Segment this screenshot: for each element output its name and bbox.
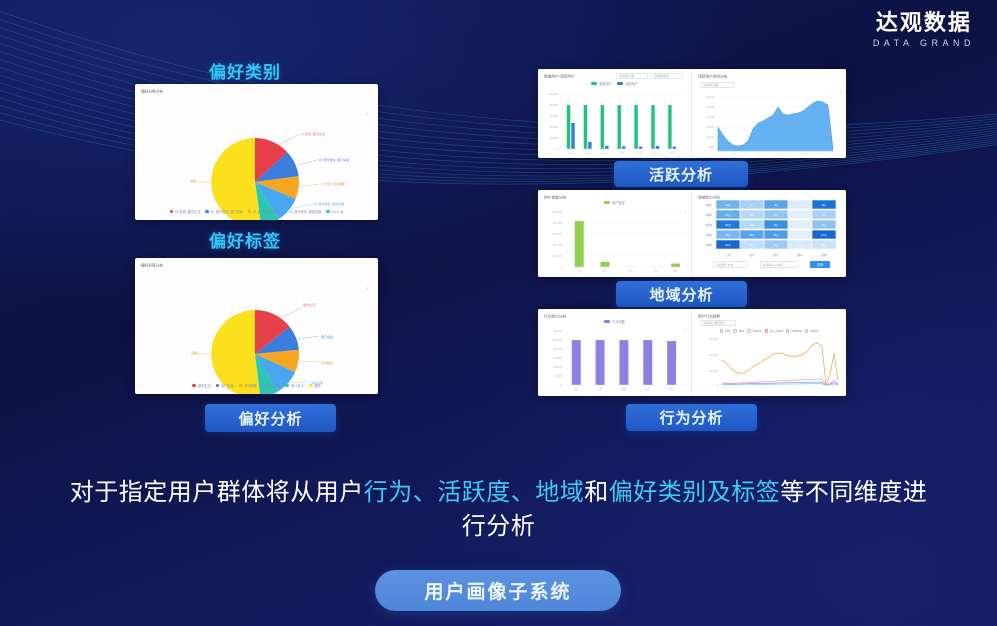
svg-text:29: 29 [833,388,835,390]
svg-text:上海: 上海 [725,253,731,257]
legend-pager[interactable]: 4 1/2▶ [326,210,343,214]
brand-name-en: DATA GRAND [873,38,975,48]
svg-text:18: 18 [793,154,795,156]
svg-text:杭州: 杭州 [654,269,658,273]
svg-text:51万: 51万 [822,224,828,227]
svg-text:时段4: 时段4 [705,233,712,237]
svg-text:31万: 31万 [750,224,756,227]
bar-chart-behavior: 300,000250,000200,000 150,000100,00050,0… [538,309,691,396]
svg-text:异术超能: 异术超能 [321,360,333,365]
svg-text:03: 03 [733,154,735,156]
svg-text:杭州: 杭州 [797,253,803,257]
svg-text:23: 23 [809,388,811,390]
svg-text:95万: 95万 [726,214,732,217]
svg-text:23: 23 [817,154,819,156]
pie-callout-2: W_现代言情_豪门总裁 [319,157,349,162]
svg-text:深圳: 深圳 [821,253,827,257]
svg-text:01-07: 01-07 [669,153,675,155]
main-text-highlight2: 偏好类别及标签 [609,479,781,506]
svg-text:300,000: 300,000 [553,233,563,236]
line-chart-behavior: 300,000200,000100,0000 02050811 14172023… [692,309,846,396]
svg-text:都市生活: 都市生活 [303,302,315,307]
svg-text:30,000: 30,000 [706,96,714,99]
svg-text:28万: 28万 [750,214,756,217]
button-behavior-analysis[interactable]: 行为分析 [626,404,757,431]
svg-text:15,000: 15,000 [706,126,714,129]
svg-text:128万: 128万 [725,204,732,207]
legend-pref-category: M_影视_都市生活 W_现代言情_豪门总裁 M_影视_异术超能 W_现代言情_霸… [135,209,378,214]
card-activity-analysis[interactable]: 新增用户/活跃用户 请选择日期 请选择类型 新增用户 活跃用户 ⤓ 100,00… [538,69,846,158]
svg-text:100,000: 100,000 [553,366,562,369]
svg-text:5,000: 5,000 [708,146,715,149]
svg-text:01-02: 01-02 [585,153,591,155]
svg-text:40,000: 40,000 [550,125,558,129]
svg-text:250,000: 250,000 [553,339,562,342]
legend-item[interactable]: W_现代言情_豪门总裁 [205,209,243,214]
legend-item[interactable]: M_影视_异术超能 [248,209,279,214]
svg-text:100,000: 100,000 [549,92,559,96]
svg-text:60,000: 60,000 [550,114,558,118]
svg-text:30万: 30万 [822,244,828,247]
pie-chart-pref-category: 其他 M_影视_都市生活 W_现代言情_豪门总裁 M_影视_异术超能 W_现代言… [135,84,378,220]
svg-text:15: 15 [781,154,783,156]
svg-text:100,000: 100,000 [709,370,718,373]
section-title-preference-tag: 偏好标签 [209,227,281,252]
svg-text:25,000: 25,000 [706,106,714,109]
svg-text:时段1: 时段1 [705,203,712,207]
svg-text:06: 06 [745,154,747,156]
button-preference-analysis[interactable]: 偏好分析 [205,404,336,432]
pie-chart-pref-tag: 其他 都市生活 豪门总裁 异术超能 霸道总裁 宫斗宅斗 [135,258,378,394]
svg-text:评论: 评论 [669,387,674,391]
svg-text:200,000: 200,000 [553,348,562,351]
svg-text:73万: 73万 [774,224,780,227]
svg-text:10,000: 10,000 [706,136,714,139]
svg-text:豪门总裁: 豪门总裁 [321,334,333,339]
svg-text:收藏: 收藏 [621,387,626,391]
svg-text:01-06: 01-06 [652,153,658,155]
svg-text:21: 21 [805,154,807,156]
legend-item[interactable]: 都市生活 [192,383,210,388]
svg-text:20,000: 20,000 [550,136,558,140]
svg-text:50,000: 50,000 [555,375,563,378]
svg-text:北京: 北京 [749,253,755,257]
svg-text:33万: 33万 [822,214,828,217]
main-text-highlight1: 行为、活跃度、地域 [364,479,585,506]
svg-text:26: 26 [821,388,823,390]
legend-item[interactable]: W_现代言情_霸道总裁 [284,209,322,214]
svg-text:100,000: 100,000 [553,255,563,258]
legend-item[interactable]: 宫斗宅斗 [285,383,303,388]
svg-text:22万: 22万 [750,244,756,247]
svg-text:分享: 分享 [645,387,650,391]
svg-text:20: 20 [797,388,799,390]
svg-text:300,000: 300,000 [709,338,718,341]
svg-text:68万: 68万 [774,234,780,237]
svg-text:0: 0 [556,147,558,151]
svg-text:12: 12 [769,154,771,156]
svg-text:01-03: 01-03 [602,153,608,155]
legend-item[interactable]: 豪门总裁 [216,383,234,388]
brand-name-cn: 达观数据 [873,10,975,35]
time-range-filter-input[interactable]: 时间段: 0-24时 [760,261,798,268]
svg-text:150,000: 150,000 [553,357,562,360]
svg-text:11: 11 [761,388,763,390]
pie-callout-3: M_影视_异术超能 [321,181,345,186]
svg-text:96万: 96万 [822,204,828,207]
svg-text:00: 00 [721,154,723,156]
svg-text:0: 0 [717,384,719,387]
svg-text:190万: 190万 [725,244,732,247]
svg-text:深圳: 深圳 [673,269,677,273]
city-filter-input[interactable]: 请选择: 城市 [714,261,748,268]
card-preference-category[interactable]: 偏好分类分布 ⤓ [135,84,378,220]
svg-text:107万: 107万 [821,234,828,237]
svg-text:时段2: 时段2 [705,213,712,217]
search-button[interactable]: 查询 [810,261,830,268]
svg-text:200,000: 200,000 [709,354,718,357]
svg-text:300,000: 300,000 [553,330,562,333]
svg-text:20,000: 20,000 [706,116,714,119]
svg-text:北京: 北京 [602,269,607,273]
main-description: 对于指定用户群体将从用户行为、活跃度、地域和偏好类别及标签等不同维度进行分析 [60,476,937,544]
svg-text:01-04: 01-04 [619,153,625,155]
svg-text:106万: 106万 [749,234,756,237]
svg-text:35万: 35万 [750,204,756,207]
svg-text:0: 0 [560,266,562,269]
legend-item[interactable]: 异术超能 [239,383,257,388]
legend-item[interactable]: 霸道总裁 [262,383,280,388]
svg-text:41万: 41万 [774,244,780,247]
legend-item[interactable]: M_影视_都市生活 [170,209,201,214]
svg-text:0: 0 [561,384,563,387]
card-preference-tag[interactable]: 偏好标签分布 ⤓ 其他 都市生活 [135,258,378,394]
svg-text:点击: 点击 [574,387,579,391]
button-activity-analysis[interactable]: 活跃分析 [614,161,748,187]
svg-text:南京: 南京 [773,253,779,257]
svg-text:14: 14 [773,388,775,390]
svg-text:02: 02 [725,388,727,390]
pie-callout-other: 其他 [190,178,196,183]
svg-text:01-05: 01-05 [636,153,642,155]
svg-text:05: 05 [737,388,739,390]
legend-pref-tag: 都市生活 豪门总裁 异术超能 霸道总裁 宫斗宅斗 其他 [135,383,378,388]
svg-text:南京: 南京 [628,269,633,273]
card-behavior-analysis[interactable]: 行为统计分布 行为次数 ⤓ 300,000250,000200,000 150,… [538,309,846,396]
area-chart-activity-time: 30,00025,00020,000 15,00010,0005,000 000… [692,69,846,158]
svg-text:500,000: 500,000 [553,211,563,214]
section-title-preference-category: 偏好类别 [209,58,281,83]
svg-text:01-01: 01-01 [568,153,574,155]
svg-text:时段5: 时段5 [705,243,712,247]
button-user-profile-subsystem[interactable]: 用户画像子系统 [375,570,621,611]
svg-text:其他: 其他 [191,350,197,355]
svg-text:44万: 44万 [774,214,780,217]
svg-text:186万: 186万 [725,224,732,227]
slide-root: 达观数据 DATA GRAND 偏好类别 偏好标签 偏好分类分布 ⤓ [0,0,997,626]
svg-text:200,000: 200,000 [553,244,563,247]
svg-text:79万: 79万 [774,204,780,207]
main-text-part1: 对于指定用户群体将从用户 [70,479,364,506]
button-region-analysis[interactable]: 地域分析 [616,281,747,307]
legend-item[interactable]: 其他 [309,383,321,388]
main-text-part2: 和 [584,479,609,506]
pie-callout-1: M_影视_都市生活 [301,131,325,136]
svg-text:09: 09 [757,154,759,156]
svg-text:时段3: 时段3 [705,223,712,227]
bar-chart-region: 500,000400,000300,000 200,000100,0000 上海… [538,190,691,277]
brand-logo: 达观数据 DATA GRAND [873,10,975,48]
card-region-analysis[interactable]: 用户地域分布 用户数量 ⤓ 500,000400,000300,000 200,… [538,190,846,277]
bar-chart-activity: 100,00080,000 60,00040,000 20,0000 [538,69,691,158]
svg-text:08: 08 [749,388,751,390]
svg-text:下单: 下单 [597,387,602,391]
svg-text:80,000: 80,000 [550,103,558,107]
svg-text:400,000: 400,000 [553,222,563,225]
svg-text:17: 17 [785,388,787,390]
pie-callout-4: W_现代言情_霸道总裁 [314,201,344,206]
svg-text:上海: 上海 [577,269,582,273]
svg-text:88万: 88万 [726,234,732,237]
